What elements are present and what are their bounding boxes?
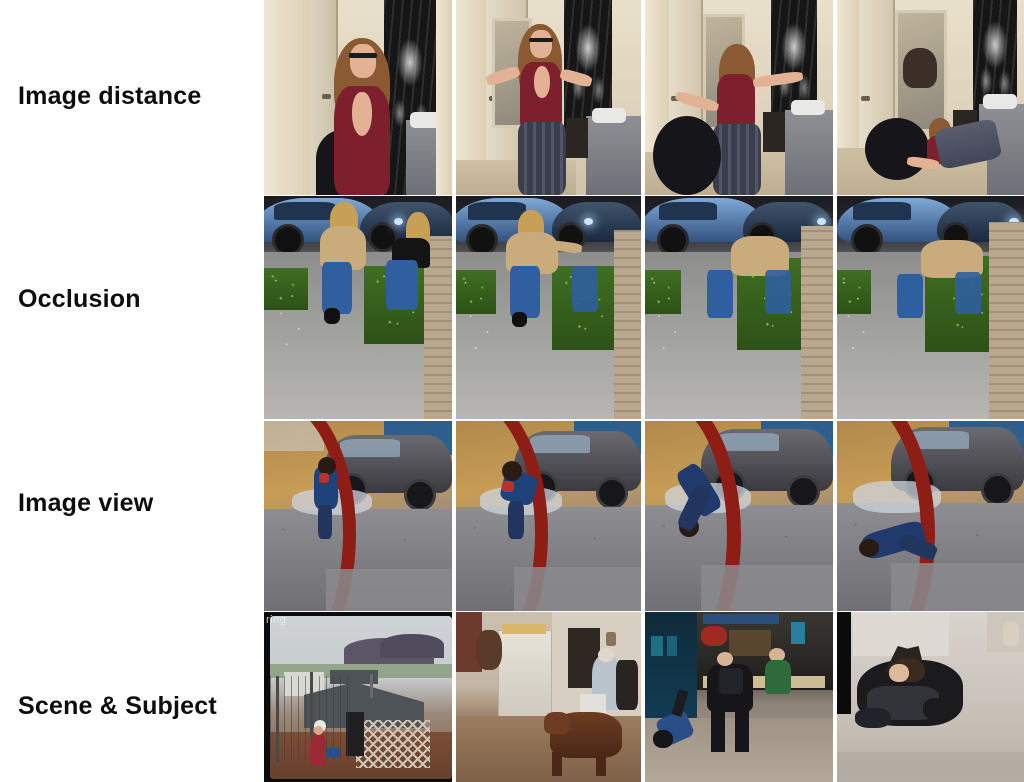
scene-fisheye-falling	[645, 421, 833, 611]
grid-cell-r1c1[interactable]	[264, 0, 452, 195]
row-label-column: Image distance Occlusion Image view Scen…	[0, 0, 264, 782]
grid-cell-r4c4[interactable]	[837, 612, 1024, 782]
scene-driveway-heavy-occlusion	[645, 196, 833, 419]
grid-cell-r1c3[interactable]	[645, 0, 833, 195]
grid-row-image-distance	[264, 0, 1024, 195]
scene-driveway-both-visible	[264, 196, 452, 419]
scene-snow-fall	[837, 612, 1024, 782]
camera-watermark: ring	[266, 614, 286, 626]
grid-cell-r4c3[interactable]	[645, 612, 833, 782]
grid-cell-r1c4[interactable]	[837, 0, 1024, 195]
scene-bedroom-mid	[456, 0, 641, 195]
grid-cell-r2c3[interactable]	[645, 196, 833, 419]
scene-fisheye-grounded	[837, 421, 1024, 611]
scene-driveway-full-occlusion	[837, 196, 1024, 419]
scene-backyard-deck: ring	[264, 612, 452, 782]
grid-cell-r2c1[interactable]	[264, 196, 452, 419]
grid-cell-r4c2[interactable]	[456, 612, 641, 782]
row-label-scene-subject: Scene & Subject	[18, 694, 217, 719]
scene-fisheye-upright	[264, 421, 452, 611]
row-label-occlusion: Occlusion	[18, 287, 141, 312]
image-grid: ring	[264, 0, 1024, 782]
grid-cell-r2c4[interactable]	[837, 196, 1024, 419]
grid-cell-r2c2[interactable]	[456, 196, 641, 419]
grid-cell-r1c2[interactable]	[456, 0, 641, 195]
grid-cell-r3c3[interactable]	[645, 421, 833, 611]
scene-driveway-partial-occlusion	[456, 196, 641, 419]
grid-cell-r3c4[interactable]	[837, 421, 1024, 611]
scene-bedroom-far	[837, 0, 1024, 195]
scene-street-altercation	[645, 612, 833, 782]
scene-indoor-dog	[456, 612, 641, 782]
grid-row-image-view	[264, 421, 1024, 611]
scene-fisheye-bending	[456, 421, 641, 611]
grid-cell-r3c1[interactable]	[264, 421, 452, 611]
scene-bedroom-close	[264, 0, 452, 195]
grid-row-occlusion	[264, 196, 1024, 419]
row-label-image-view: Image view	[18, 491, 153, 516]
grid-row-scene-subject: ring	[264, 612, 1024, 782]
row-label-image-distance: Image distance	[18, 84, 201, 109]
scene-bedroom-wide	[645, 0, 833, 195]
grid-cell-r4c1[interactable]: ring	[264, 612, 452, 782]
figure-root: Image distance Occlusion Image view Scen…	[0, 0, 1024, 782]
grid-cell-r3c2[interactable]	[456, 421, 641, 611]
